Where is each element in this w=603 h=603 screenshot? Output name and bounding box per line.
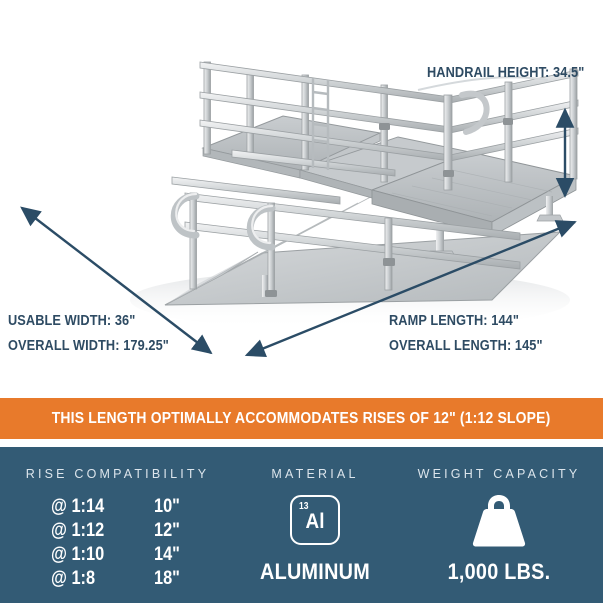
- rise-value-cell: 18": [154, 567, 180, 591]
- rise-compatibility-table: @ 1:14 @ 1:12 @ 1:10 @ 1:8 10" 12" 14" 1…: [0, 495, 235, 591]
- rise-compatibility-title: RISE COMPATIBILITY: [0, 467, 235, 481]
- label-handrail-height: HANDRAIL HEIGHT: 34.5": [427, 65, 584, 81]
- aluminum-element-icon: 13 Al: [290, 495, 340, 545]
- rise-slope-cell: @ 1:12: [51, 519, 104, 543]
- rise-slope-cell: @ 1:10: [51, 543, 104, 567]
- label-usable-width: USABLE WIDTH: 36": [8, 313, 135, 329]
- weight-capacity-value: 1,000 LBS.: [405, 559, 592, 585]
- material-title: MATERIAL: [235, 467, 395, 481]
- slope-banner: THIS LENGTH OPTIMALLY ACCOMMODATES RISES…: [0, 398, 603, 439]
- rise-value-column: 10" 12" 14" 18": [154, 495, 184, 591]
- rise-slope-cell: @ 1:8: [51, 567, 104, 591]
- ramp-illustration: HANDRAIL HEIGHT: 34.5" USABLE WIDTH: 36"…: [0, 0, 603, 398]
- spec-column-rise-compatibility: RISE COMPATIBILITY @ 1:14 @ 1:12 @ 1:10 …: [0, 447, 235, 603]
- rise-value-cell: 10": [154, 495, 180, 519]
- rise-value-cell: 12": [154, 519, 180, 543]
- spec-column-material: MATERIAL 13 Al ALUMINUM: [235, 447, 395, 603]
- label-overall-length: OVERALL LENGTH: 145": [389, 338, 543, 354]
- weight-icon: [468, 493, 530, 554]
- spec-column-weight-capacity: WEIGHT CAPACITY 1,000 LBS.: [395, 447, 603, 603]
- label-overall-width: OVERALL WIDTH: 179.25": [8, 338, 169, 354]
- rise-value-cell: 14": [154, 543, 180, 567]
- material-value: ALUMINUM: [243, 559, 387, 585]
- label-ramp-length: RAMP LENGTH: 144": [389, 313, 519, 329]
- rise-slope-cell: @ 1:14: [51, 495, 104, 519]
- slope-banner-text: THIS LENGTH OPTIMALLY ACCOMMODATES RISES…: [52, 410, 551, 428]
- infographic-root: HANDRAIL HEIGHT: 34.5" USABLE WIDTH: 36"…: [0, 0, 603, 603]
- rise-slope-column: @ 1:14 @ 1:12 @ 1:10 @ 1:8: [51, 495, 113, 591]
- spec-panel: RISE COMPATIBILITY @ 1:14 @ 1:12 @ 1:10 …: [0, 447, 603, 603]
- element-symbol: Al: [294, 510, 335, 534]
- weight-capacity-title: WEIGHT CAPACITY: [395, 467, 603, 481]
